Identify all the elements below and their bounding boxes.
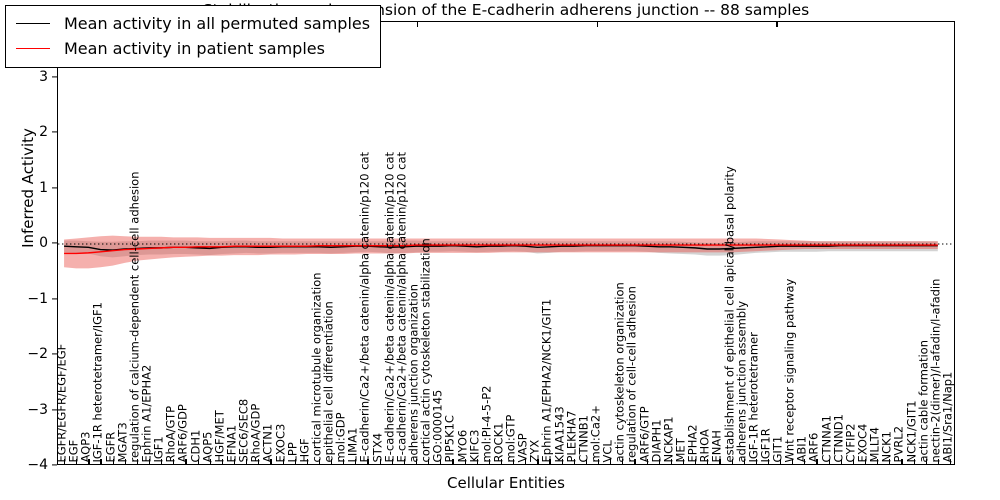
x-tick-mark [744,459,745,464]
x-tick-mark [113,459,114,464]
x-tick-mark [768,459,769,464]
x-tick-mark [452,459,453,464]
x-tick-mark [428,459,429,464]
y-axis-label: Inferred Activity [19,68,37,308]
x-tick-mark [100,459,101,464]
x-tick-mark [780,459,781,464]
x-tick-mark [719,459,720,464]
x-axis-label: Cellular Entities [57,474,955,492]
x-tick-mark [380,459,381,464]
x-tick-mark [392,459,393,464]
x-tick-mark [185,459,186,464]
x-tick-label: Wnt receptor signaling pathway [785,278,797,462]
x-tick-mark [88,459,89,464]
x-tick-mark [525,459,526,464]
x-tick-mark [586,459,587,464]
x-tick-mark [889,459,890,464]
legend-swatch-patient [16,48,50,49]
plot-area: EGFR/EGFR/EGF/EGFEGFAQP3IGF-1R heterotet… [57,21,955,465]
y-tick-label: 0 [39,235,48,251]
x-tick-mark [877,459,878,464]
x-tick-mark [210,459,211,464]
x-tick-mark [598,459,599,464]
x-tick-label: E-cadherin/Ca2+/beta catenin/alpha caten… [360,151,372,462]
x-tick-mark [804,459,805,464]
x-tick-mark [562,459,563,464]
x-tick-mark-top [417,22,418,27]
legend-swatch-permuted [16,23,50,24]
x-tick-mark [258,459,259,464]
x-tick-mark [295,459,296,464]
x-tick-mark [343,459,344,464]
x-tick-mark-top [776,22,777,27]
x-tick-mark [501,459,502,464]
x-tick-mark [537,459,538,464]
x-tick-label: ABI1/Sra1/Nap1 [942,371,954,462]
legend: Mean activity in all permuted samples Me… [5,5,381,68]
x-tick-mark [683,459,684,464]
x-tick-mark [938,459,939,464]
x-tick-mark [367,459,368,464]
x-tick-mark [355,459,356,464]
x-tick-mark [198,459,199,464]
x-tick-mark [695,459,696,464]
x-tick-mark-top [597,22,598,27]
x-tick-mark [161,459,162,464]
x-tick-mark [853,459,854,464]
x-tick-mark [634,459,635,464]
x-tick-mark [222,459,223,464]
x-tick-mark [914,459,915,464]
x-tick-mark [574,459,575,464]
x-tick-mark [404,459,405,464]
x-tick-mark [465,459,466,464]
x-tick-mark [173,459,174,464]
x-tick-mark [440,459,441,464]
x-tick-mark [756,459,757,464]
x-tick-mark [246,459,247,464]
x-tick-mark [234,459,235,464]
legend-item-patient: Mean activity in patient samples [16,36,370,61]
y-tick-label: 2 [39,124,48,140]
x-tick-mark [319,459,320,464]
legend-item-permuted: Mean activity in all permuted samples [16,11,370,36]
x-tick-mark [149,459,150,464]
patient-std-band [64,236,938,269]
x-tick-mark [307,459,308,464]
x-tick-mark [489,459,490,464]
y-tick-label: −4 [27,457,48,473]
x-tick-mark [610,459,611,464]
x-tick-mark [841,459,842,464]
x-tick-mark [950,459,951,464]
x-tick-mark [659,459,660,464]
x-tick-mark [622,459,623,464]
x-tick-mark [331,459,332,464]
x-tick-mark [283,459,284,464]
x-tick-mark [792,459,793,464]
x-tick-mark [671,459,672,464]
y-tick-label: −2 [27,346,48,362]
x-tick-mark [125,459,126,464]
x-tick-mark [477,459,478,464]
x-tick-mark [549,459,550,464]
y-tick-label: 3 [39,69,48,85]
y-tick-label: −3 [27,402,48,418]
x-tick-mark [76,459,77,464]
x-tick-mark [732,459,733,464]
x-tick-mark [926,459,927,464]
x-tick-mark [137,459,138,464]
x-tick-mark [416,459,417,464]
y-tick-label: 1 [39,180,48,196]
x-tick-mark [707,459,708,464]
x-tick-mark [816,459,817,464]
x-tick-mark [64,459,65,464]
legend-label-patient: Mean activity in patient samples [64,39,325,58]
x-tick-mark [901,459,902,464]
x-tick-mark [647,459,648,464]
chart-data-layer [58,22,955,465]
figure-canvas: Stabilization and expansion of the E-cad… [0,0,1000,500]
x-tick-mark [865,459,866,464]
x-tick-mark [829,459,830,464]
plot-inner: EGFR/EGFR/EGF/EGFEGFAQP3IGF-1R heterotet… [58,22,954,464]
x-tick-mark [513,459,514,464]
x-tick-mark [270,459,271,464]
legend-label-permuted: Mean activity in all permuted samples [64,14,370,33]
